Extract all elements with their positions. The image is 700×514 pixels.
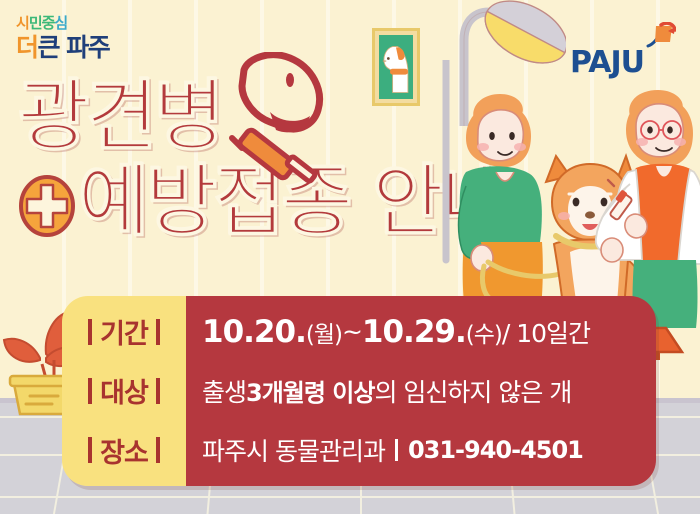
info-labels-column: 기간 대상 장소: [62, 296, 186, 486]
ci-slogan-bottom: 더큰 파주: [16, 35, 136, 60]
value-segment-5: .: [455, 314, 466, 350]
value-segment-4: 10.29: [362, 314, 455, 350]
info-values-column: 10.20.(월) ~ 10.29.(수) / 10일간 출생 3개월령 이상의…: [186, 296, 656, 486]
label-bar-left: [88, 437, 92, 463]
value-segment-3: ~: [342, 317, 362, 346]
value-segment-2: 031-940-4501: [408, 436, 583, 464]
value-segment-2: (월): [306, 315, 342, 349]
info-panel: 기간 대상 장소 10.20.(월) ~ 10.29.(수) / 10일간 출생…: [62, 296, 656, 486]
ci-slogan-char-1: 시: [16, 14, 29, 32]
medical-cross-icon: [18, 175, 76, 237]
label-bar-right: [156, 378, 160, 404]
ci-slogan-bigger-paju: 큰 파주: [38, 33, 110, 62]
label-period-text: 기간: [100, 312, 148, 351]
value-period: 10.20.(월) ~ 10.29.(수) / 10일간: [202, 302, 656, 361]
pet-owner-figure: [459, 94, 560, 318]
value-segment-7: / 10일간: [502, 314, 590, 350]
value-separator: [395, 439, 398, 461]
poster-title: 광견병 예방접종 안내: [18, 80, 478, 240]
label-place-text: 장소: [100, 431, 148, 470]
value-segment-0: 출생: [202, 373, 246, 409]
ci-slogan-char-3: 심: [54, 14, 67, 32]
label-bar-left: [88, 378, 92, 404]
ci-slogan-more: 더: [16, 33, 38, 62]
label-target: 대상: [80, 361, 168, 420]
value-segment-6: (수): [466, 315, 502, 349]
label-period: 기간: [80, 302, 168, 361]
label-place: 장소: [80, 421, 168, 480]
paju-ci-logo: 시민중심 더큰 파주: [16, 16, 136, 60]
value-segment-2: 의 임신하지 않은 개: [374, 373, 571, 409]
value-segment-0: 파주시 동물관리과: [202, 432, 385, 468]
value-segment-1: .: [295, 314, 306, 350]
rabies-vaccination-poster: 시민중심 더큰 파주 PAJU: [0, 0, 700, 514]
label-bar-right: [156, 319, 160, 345]
syringe-icon: [232, 128, 316, 182]
label-bar-right: [156, 437, 160, 463]
ci-slogan-top: 시민중심: [16, 16, 136, 31]
value-segment-1: 3개월령 이상: [246, 373, 374, 408]
ci-slogan-char-2: 민중: [29, 14, 55, 32]
label-bar-left: [88, 319, 92, 345]
dog-head-lineart-icon: [214, 52, 344, 202]
value-target: 출생 3개월령 이상의 임신하지 않은 개: [202, 361, 656, 420]
label-target-text: 대상: [100, 371, 148, 410]
value-segment-0: 10.20: [202, 314, 295, 350]
value-place: 파주시 동물관리과031-940-4501: [202, 421, 656, 480]
